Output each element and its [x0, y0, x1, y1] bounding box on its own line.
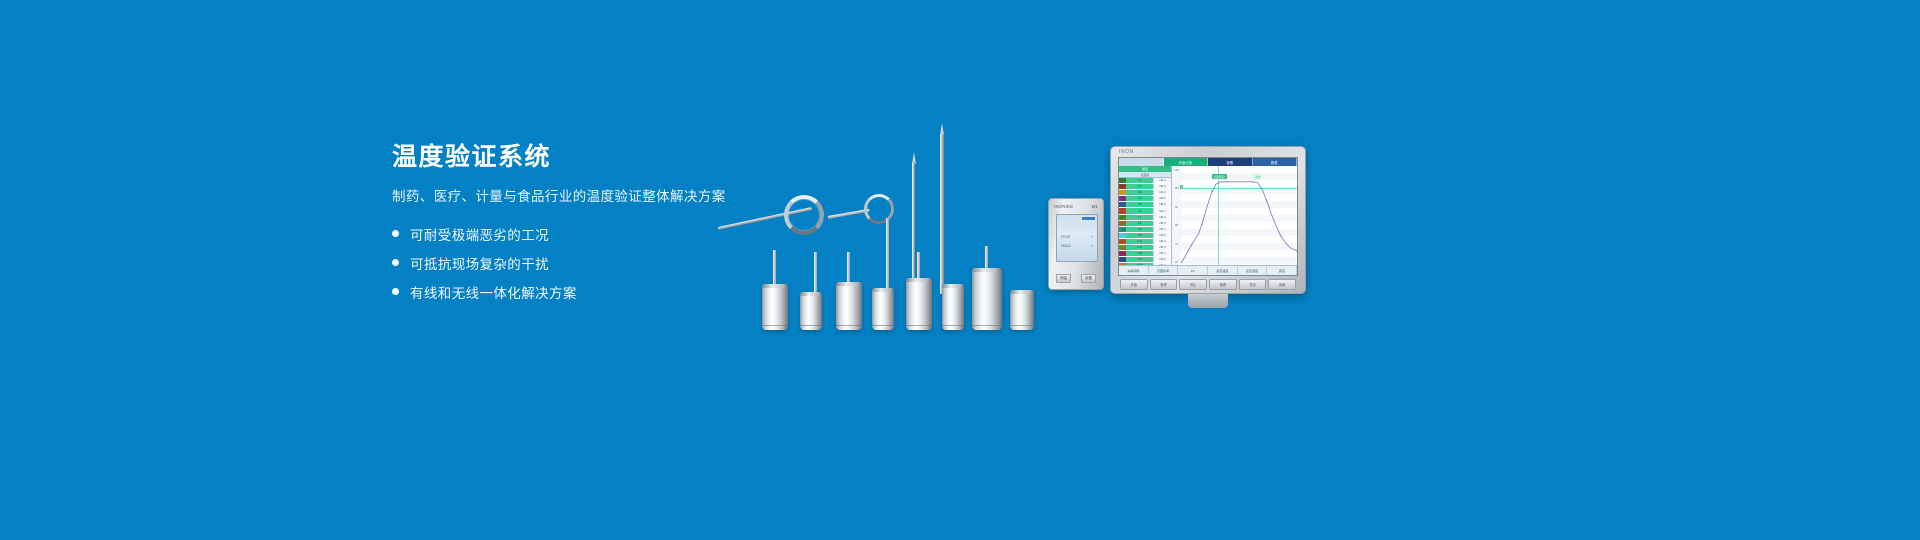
toolbar-spacer — [1119, 158, 1164, 166]
monitor-hardware-button: 停止 — [1179, 279, 1207, 290]
banner-subtitle: 制药、医疗、计量与食品行业的温度验证整体解决方案 — [392, 188, 812, 206]
chart-data-point — [1252, 181, 1254, 182]
handheld-screen: 3°C/S + HOLD + — [1056, 214, 1098, 262]
monitor-hardware-button: 设置 — [1268, 279, 1296, 290]
channel-value: 121.2 — [1153, 202, 1171, 207]
monitor-brand-label: INON — [1119, 149, 1134, 155]
chart-data-point — [1280, 235, 1282, 236]
channel-value: 121.4 — [1153, 239, 1171, 244]
needle-probe — [912, 162, 915, 294]
data-logger — [942, 284, 964, 330]
channel-value: 121.5 — [1153, 245, 1171, 250]
chart-data-point — [1191, 244, 1193, 245]
statusbar-cell: 最低温度 — [1238, 266, 1268, 275]
monitor-display: INON 开始记录 查看 报表 通道 温度值 T-1121.4T-2121.5T… — [1110, 146, 1306, 294]
channel-name: T-2 — [1126, 184, 1153, 189]
data-logger — [972, 268, 1002, 330]
data-logger — [1010, 290, 1034, 330]
channel-name: T-12 — [1126, 245, 1153, 250]
channel-name: T-7 — [1126, 215, 1153, 220]
handheld-key-measure: 测量 — [1056, 274, 1071, 283]
channel-list: 通道 温度值 T-1121.4T-2121.5T-3121.3T-4121.6T… — [1119, 166, 1172, 266]
data-logger — [906, 278, 932, 330]
monitor-hardware-button: 开始 — [1120, 279, 1148, 290]
feature-label: 可耐受极端恶劣的工况 — [410, 224, 549, 244]
chart-data-point — [1212, 190, 1214, 191]
channel-color-swatch — [1119, 184, 1126, 189]
channel-color-swatch — [1119, 251, 1126, 256]
channel-color-swatch — [1119, 233, 1126, 238]
channel-color-swatch — [1119, 190, 1126, 195]
data-logger — [872, 288, 894, 330]
coil-probe-small — [828, 192, 908, 252]
bullet-dot-icon — [392, 288, 399, 295]
chart-y-tick: 92 — [1172, 206, 1181, 209]
channel-name: T-9 — [1126, 227, 1153, 232]
channel-name: T-3 — [1126, 190, 1153, 195]
handheld-reading-row: HOLD + — [1061, 244, 1093, 248]
list-item: 可抵抗现场复杂的干扰 — [392, 253, 812, 273]
handheld-model-label: M1 — [1092, 204, 1098, 209]
channel-name: T-6 — [1126, 208, 1153, 213]
chart-y-tick: 68 — [1172, 224, 1181, 227]
channel-name: T-8 — [1126, 221, 1153, 226]
toolbar-view-button: 查看 — [1208, 158, 1253, 166]
channel-color-swatch — [1119, 257, 1126, 262]
list-item: 有线和无线一体化解决方案 — [392, 282, 812, 302]
chart-y-tick: 20 — [1172, 261, 1181, 264]
bullet-dot-icon — [392, 259, 399, 266]
channel-value: 121.6 — [1153, 233, 1171, 238]
channel-value: 121.4 — [1153, 178, 1171, 183]
feature-label: 可抵抗现场复杂的干扰 — [410, 253, 549, 273]
handheld-keypad: 测量 设置 — [1056, 274, 1096, 283]
channel-color-swatch — [1119, 196, 1126, 201]
handheld-reading-value: + — [1091, 235, 1093, 239]
probe-coil — [864, 194, 894, 224]
chart-data-point — [1227, 181, 1229, 182]
handheld-reading-label: 3°C/S — [1061, 235, 1070, 239]
probe-stem — [886, 218, 889, 292]
channel-value: 121.6 — [1153, 196, 1171, 201]
list-item: 可耐受极端恶劣的工况 — [392, 224, 812, 244]
monitor-hardware-button: 报表 — [1209, 279, 1237, 290]
channel-color-swatch — [1119, 227, 1126, 232]
logger-stem — [847, 252, 850, 282]
monitor-screen: 开始记录 查看 报表 通道 温度值 T-1121.4T-2121.5T-3121… — [1118, 157, 1298, 276]
chart-y-tick: 140 — [1172, 169, 1181, 172]
handheld-key-settings: 设置 — [1081, 274, 1096, 283]
channel-color-swatch — [1119, 208, 1126, 213]
logger-stem — [917, 252, 920, 278]
channel-value: 121.4 — [1153, 215, 1171, 220]
feature-list: 可耐受极端恶劣的工况 可抵抗现场复杂的干扰 有线和无线一体化解决方案 — [392, 224, 812, 302]
handheld-titlebar — [1082, 217, 1095, 220]
software-body: 通道 温度值 T-1121.4T-2121.5T-3121.3T-4121.6T… — [1119, 166, 1297, 266]
bullet-dot-icon — [392, 230, 399, 237]
handheld-brand-row: INONIKE M1 — [1054, 204, 1098, 209]
channel-name: T-13 — [1126, 251, 1153, 256]
statusbar-cell: F0 — [1178, 266, 1208, 275]
feature-label: 有线和无线一体化解决方案 — [410, 282, 577, 302]
channel-color-swatch — [1119, 245, 1126, 250]
channel-value: 121.5 — [1153, 221, 1171, 226]
needle-probe — [940, 134, 944, 294]
chart-line-svg — [1181, 166, 1297, 266]
logger-stem — [985, 246, 988, 268]
chart-panel: 14011692684420 保温阶段 平衡 0 — [1172, 166, 1297, 266]
channel-color-swatch — [1119, 239, 1126, 244]
monitor-hardware-button: 暂停 — [1150, 279, 1178, 290]
chart-series-points — [1181, 181, 1297, 263]
statusbar-cell: 灭菌时间 — [1149, 266, 1179, 275]
page-title: 温度验证系统 — [392, 142, 812, 172]
channel-name: T-4 — [1126, 196, 1153, 201]
probe-stem — [814, 252, 817, 296]
channel-value: 121.3 — [1153, 227, 1171, 232]
channel-color-swatch — [1119, 215, 1126, 220]
channel-value: 121.7 — [1153, 208, 1171, 213]
handheld-reading-row: 3°C/S + — [1061, 235, 1093, 239]
channel-value: 121.5 — [1153, 184, 1171, 189]
chart-data-point — [1201, 224, 1203, 225]
monitor-stand — [1188, 294, 1228, 308]
monitor-hardware-button: 导出 — [1239, 279, 1267, 290]
software-statusbar: 采样间隔灭菌时间F0最高温度最低温度通道 — [1119, 265, 1297, 275]
chart-data-point — [1266, 200, 1268, 201]
toolbar-report-button: 报表 — [1253, 158, 1298, 166]
channel-color-swatch — [1119, 178, 1126, 183]
handheld-reader: INONIKE M1 3°C/S + HOLD + 测量 设置 — [1048, 198, 1104, 290]
toolbar-record-button: 开始记录 — [1164, 158, 1209, 166]
channel-value: 121.3 — [1153, 190, 1171, 195]
statusbar-cell: 通道 — [1267, 266, 1297, 275]
channel-value: 121.3 — [1153, 251, 1171, 256]
statusbar-cell: 最高温度 — [1208, 266, 1238, 275]
channel-name: T-5 — [1126, 202, 1153, 207]
channel-name: T-11 — [1126, 239, 1153, 244]
channel-name: T-1 — [1126, 178, 1153, 183]
channel-rows: T-1121.4T-2121.5T-3121.3T-4121.6T-5121.2… — [1119, 178, 1171, 266]
channel-name: T-10 — [1126, 233, 1153, 238]
statusbar-cell: 采样间隔 — [1119, 266, 1149, 275]
data-logger — [836, 282, 862, 330]
chart-y-tick: 44 — [1172, 243, 1181, 246]
channel-color-swatch — [1119, 202, 1126, 207]
handheld-reading-label: HOLD — [1061, 244, 1070, 248]
channel-value: 121.6 — [1153, 257, 1171, 262]
handheld-brand-label: INONIKE — [1054, 204, 1073, 209]
channel-name: T-14 — [1126, 257, 1153, 262]
monitor-button-bar: 开始暂停停止报表导出设置 — [1120, 279, 1296, 290]
chart-plot-area: 保温阶段 平衡 0 — [1181, 166, 1297, 266]
chart-series-line — [1181, 182, 1297, 263]
handheld-reading-value: + — [1091, 244, 1093, 248]
banner-text-block: 温度验证系统 制药、医疗、计量与食品行业的温度验证整体解决方案 可耐受极端恶劣的… — [392, 142, 812, 311]
channel-color-swatch — [1119, 221, 1126, 226]
hero-banner: 温度验证系统 制药、医疗、计量与食品行业的温度验证整体解决方案 可耐受极端恶劣的… — [0, 0, 1920, 540]
